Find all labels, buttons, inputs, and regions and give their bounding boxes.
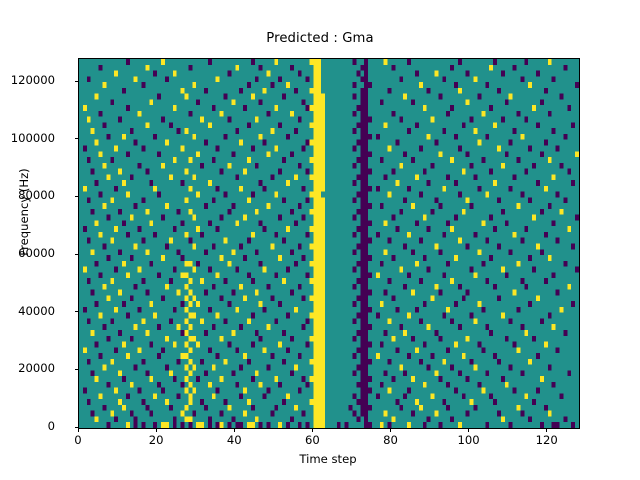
spectrogram-heatmap xyxy=(79,59,579,428)
x-tick-label: 80 xyxy=(351,434,431,446)
matplotlib-figure: Predicted : Gma 020000400006000080000100… xyxy=(0,0,640,480)
y-tick-mark xyxy=(75,196,79,197)
x-tick-label: 20 xyxy=(116,434,196,446)
x-tick-mark xyxy=(234,429,235,433)
y-tick-label: 120000 xyxy=(11,74,55,86)
y-tick-label: 40000 xyxy=(18,305,55,317)
x-tick-label: 0 xyxy=(38,434,118,446)
plot-title: Predicted : Gma xyxy=(0,31,640,47)
x-tick-mark xyxy=(546,429,547,433)
x-tick-mark xyxy=(78,429,79,433)
x-axis-label: Time step xyxy=(78,452,578,466)
y-tick-label: 0 xyxy=(48,420,55,432)
x-tick-mark xyxy=(390,429,391,433)
x-tick-label: 40 xyxy=(194,434,274,446)
x-tick-label: 100 xyxy=(429,434,509,446)
y-tick-mark xyxy=(75,311,79,312)
heatmap-axes xyxy=(78,58,580,429)
y-tick-mark xyxy=(75,369,79,370)
y-tick-label: 20000 xyxy=(18,362,55,374)
y-tick-mark xyxy=(75,138,79,139)
x-tick-label: 60 xyxy=(272,434,352,446)
y-tick-mark xyxy=(75,254,79,255)
x-tick-mark xyxy=(468,429,469,433)
x-tick-mark xyxy=(312,429,313,433)
y-tick-mark xyxy=(75,427,79,428)
y-tick-mark xyxy=(75,81,79,82)
y-axis-label: Frequency (Hz) xyxy=(17,122,31,302)
x-tick-label: 120 xyxy=(507,434,587,446)
x-tick-mark xyxy=(156,429,157,433)
